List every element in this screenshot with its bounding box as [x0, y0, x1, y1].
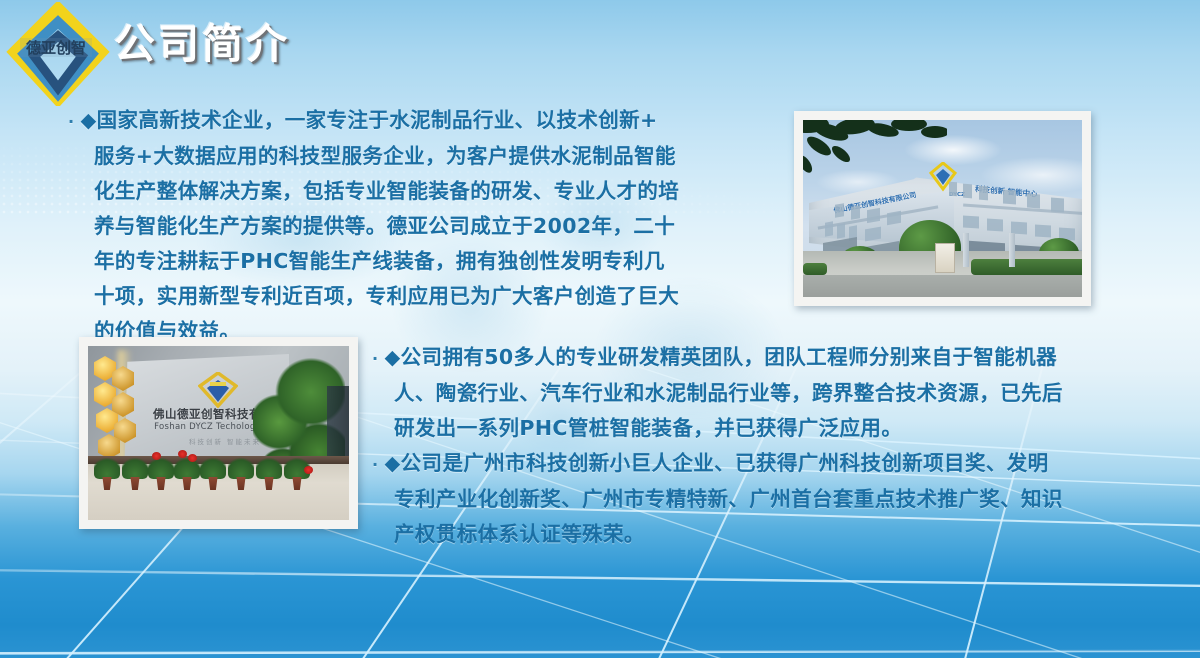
paragraph-line: 专利产业化创新奖、广州市专精特新、广州首台套重点技术推广奖、知识: [372, 482, 1124, 517]
foreground-branches: [803, 120, 947, 186]
bullet-dot: ·: [372, 455, 378, 474]
paragraph-line: 年的专注耕耘于PHC智能生产线装备，拥有独创性发明专利几: [68, 244, 716, 279]
paragraph-line: ◆公司拥有50多人的专业研发精英团队，团队工程师分别来自于智能机器: [384, 345, 1057, 369]
notice-board: [935, 243, 955, 273]
paragraph-awards: ·◆公司是广州市科技创新小巨人企业、已获得广州科技创新项目奖、发明 专利产业化创…: [372, 446, 1124, 552]
paragraph-line: 十项，实用新型专利近百项，专利应用已为广大客户创造了巨大: [68, 279, 716, 314]
paragraph-line: 服务+大数据应用的科技型服务企业，为客户提供水泥制品智能: [68, 139, 716, 174]
page-title: 公司简介: [114, 24, 290, 65]
logo-text-characters: 德亚创智: [20, 38, 92, 57]
dycz-diamond-logo: 德亚创智: [6, 2, 110, 106]
lobby-wall-logo-icon: [198, 372, 238, 408]
bullet-dot: ·: [372, 349, 378, 368]
paragraph-rd-team: ·◆公司拥有50多人的专业研发精英团队，团队工程师分别来自于智能机器 人、陶瓷行…: [372, 340, 1124, 446]
paragraph-line: ◆国家高新技术企业，一家专注于水泥制品行业、以技术创新+: [80, 108, 657, 132]
paragraph-line: ◆公司是广州市科技创新小巨人企业、已获得广州科技创新项目奖、发明: [384, 451, 1048, 475]
road: [803, 275, 1082, 297]
paragraph-line: 研发出一系列PHC管桩智能装备，并已获得广泛应用。: [372, 411, 1124, 446]
paragraph-line: 人、陶瓷行业、汽车行业和水泥制品行业等，跨界整合技术资源，已先后: [372, 376, 1124, 411]
paragraph-company-overview: ·◆国家高新技术企业，一家专注于水泥制品行业、以技术创新+ 服务+大数据应用的科…: [68, 103, 716, 349]
company-building-photo: DYCZ 佛山德亚创智科技有限公司 科技创新 智能中心: [794, 111, 1091, 306]
bullet-dot: ·: [68, 112, 74, 131]
paragraph-line: 化生产整体解决方案，包括专业智能装备的研发、专业人才的培: [68, 174, 716, 209]
slide-root: 德亚创智 公司简介 ·◆国家高新技术企业，一家专注于水泥制品行业、以技术创新+ …: [0, 0, 1200, 658]
paragraph-line: 产权贯标体系认证等殊荣。: [372, 517, 1124, 552]
paragraph-line: 养与智能化生产方案的提供等。德亚公司成立于2002年，二十: [68, 209, 716, 244]
svg-text:德亚创智: 德亚创智: [26, 39, 86, 57]
company-lobby-photo: 佛山德亚创智科技有限公司 Foshan DYCZ Techology Co.,L…: [79, 337, 358, 529]
